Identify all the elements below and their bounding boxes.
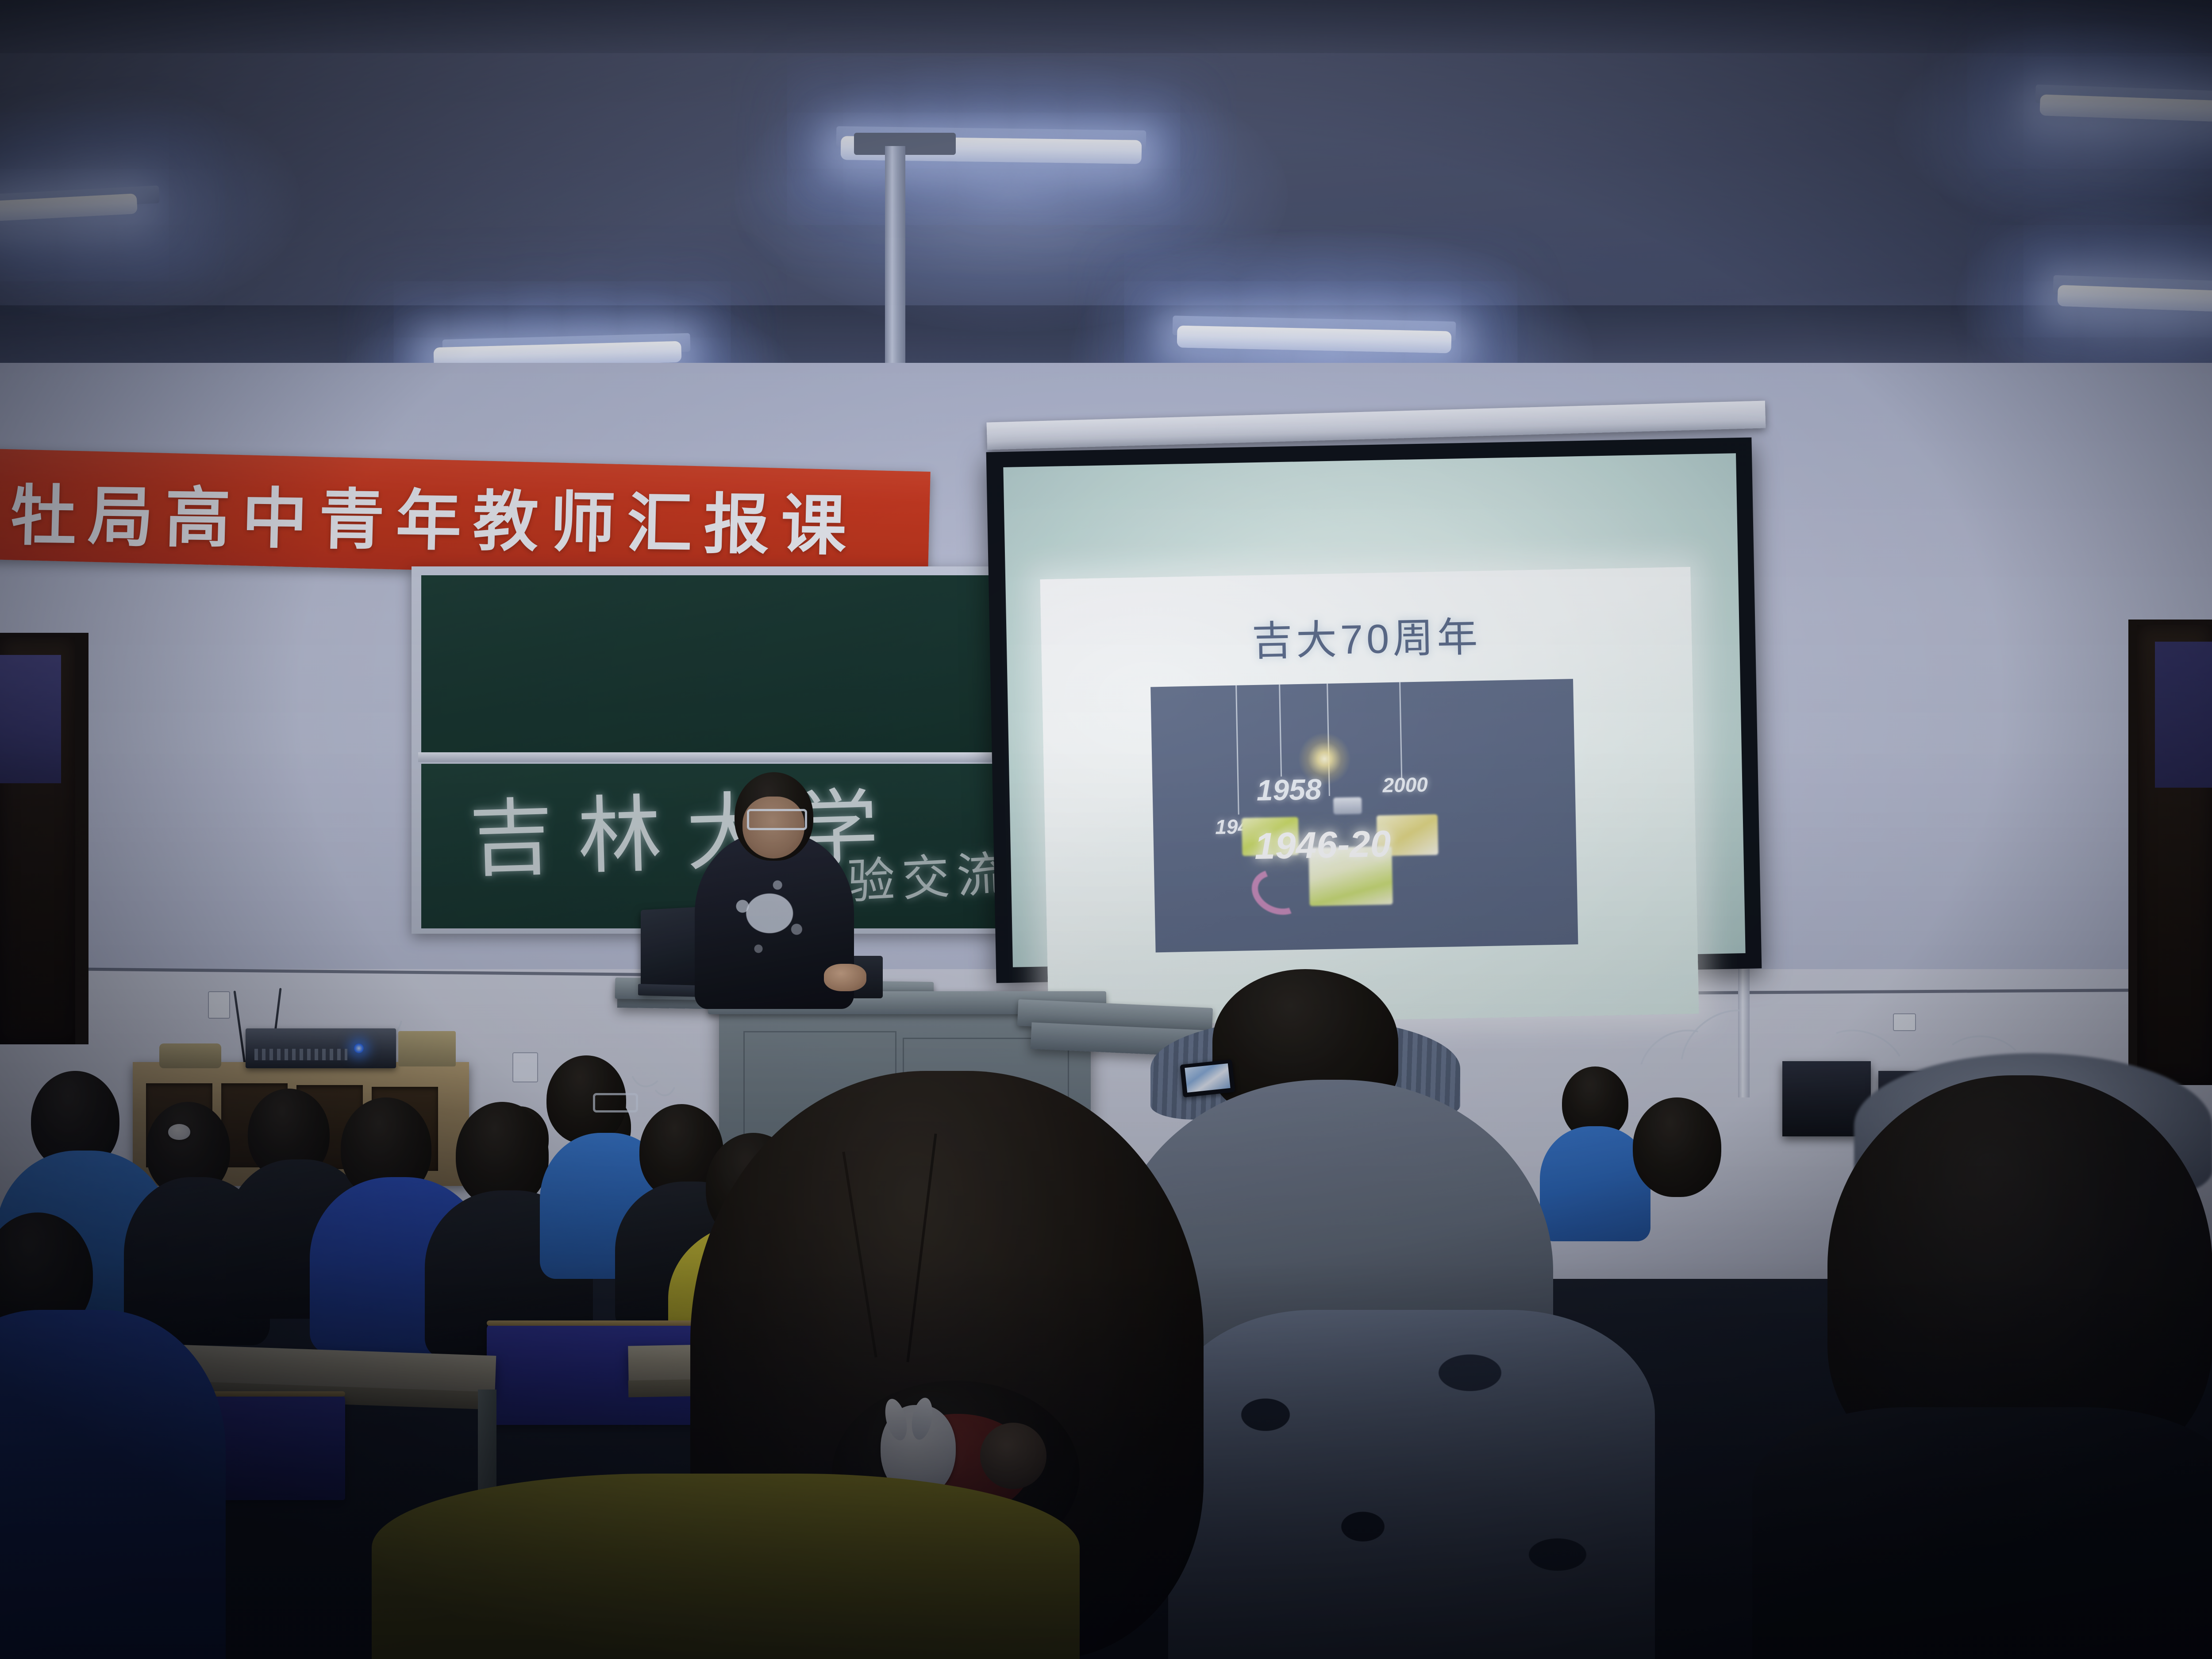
amplifier-controls[interactable]: [254, 1049, 347, 1060]
door-glass-left: [0, 655, 61, 783]
foreground-student-shoulder: [372, 1474, 1080, 1659]
timeline-photo-4: [1333, 797, 1362, 814]
recording-phone-screen: [1185, 1063, 1230, 1093]
timeline-stem-4: [1399, 682, 1402, 778]
banner-text: 牡局高中青年教师汇报课: [0, 462, 859, 568]
presentation-slide: 吉大70周年 1946 1958 2000 1946-20: [1040, 567, 1699, 1026]
student-body-camo: [1168, 1310, 1655, 1659]
timeline-stem-2: [1279, 685, 1282, 777]
student-body-fur-hood: [1752, 1407, 2212, 1659]
blackboard-divider-rail: [418, 752, 1002, 762]
timeline-year-2000: 2000: [1382, 772, 1428, 797]
student-head-r2: [1633, 1097, 1721, 1197]
shelf-item-cloth: [159, 1043, 221, 1068]
student-body-fg-left: [0, 1310, 226, 1659]
presenter-hand: [824, 964, 866, 991]
timeline-overlay-text: 1946-20: [1254, 822, 1391, 868]
audio-amplifier[interactable]: [246, 1028, 396, 1068]
student-glasses-l6: [593, 1093, 638, 1112]
hair-clip-l2: [168, 1124, 190, 1140]
presenter-glasses: [747, 809, 807, 830]
slide-title: 吉大70周年: [1041, 600, 1692, 671]
classroom-photo-scene: 牡局高中青年教师汇报课 吉林大学 经验交流 吉大70周年 1946 1958 2…: [0, 0, 2212, 1659]
amplifier-power-led: [354, 1043, 364, 1053]
shelf-item-box: [398, 1031, 456, 1066]
timeline-stem-1: [1235, 685, 1239, 815]
ceiling-beam-lower: [0, 305, 2212, 372]
wall-outlet-right[interactable]: [1893, 1013, 1916, 1031]
chair-rim-1: [487, 1320, 699, 1326]
hair-pompom: [980, 1423, 1046, 1489]
event-banner: 牡局高中青年教师汇报课: [0, 449, 931, 582]
wall-outlet-center[interactable]: [512, 1052, 538, 1082]
door-glass-right: [2155, 642, 2212, 788]
timeline-graphic: 1946 1958 2000 1946-20: [1150, 679, 1578, 952]
blackboard-surface-upper: [421, 575, 996, 752]
ribbon-decoration: [1245, 862, 1312, 923]
wall-outlet-left[interactable]: [208, 991, 230, 1019]
timeline-year-1958: 1958: [1256, 772, 1322, 807]
ceiling-beam-top: [0, 0, 2212, 53]
